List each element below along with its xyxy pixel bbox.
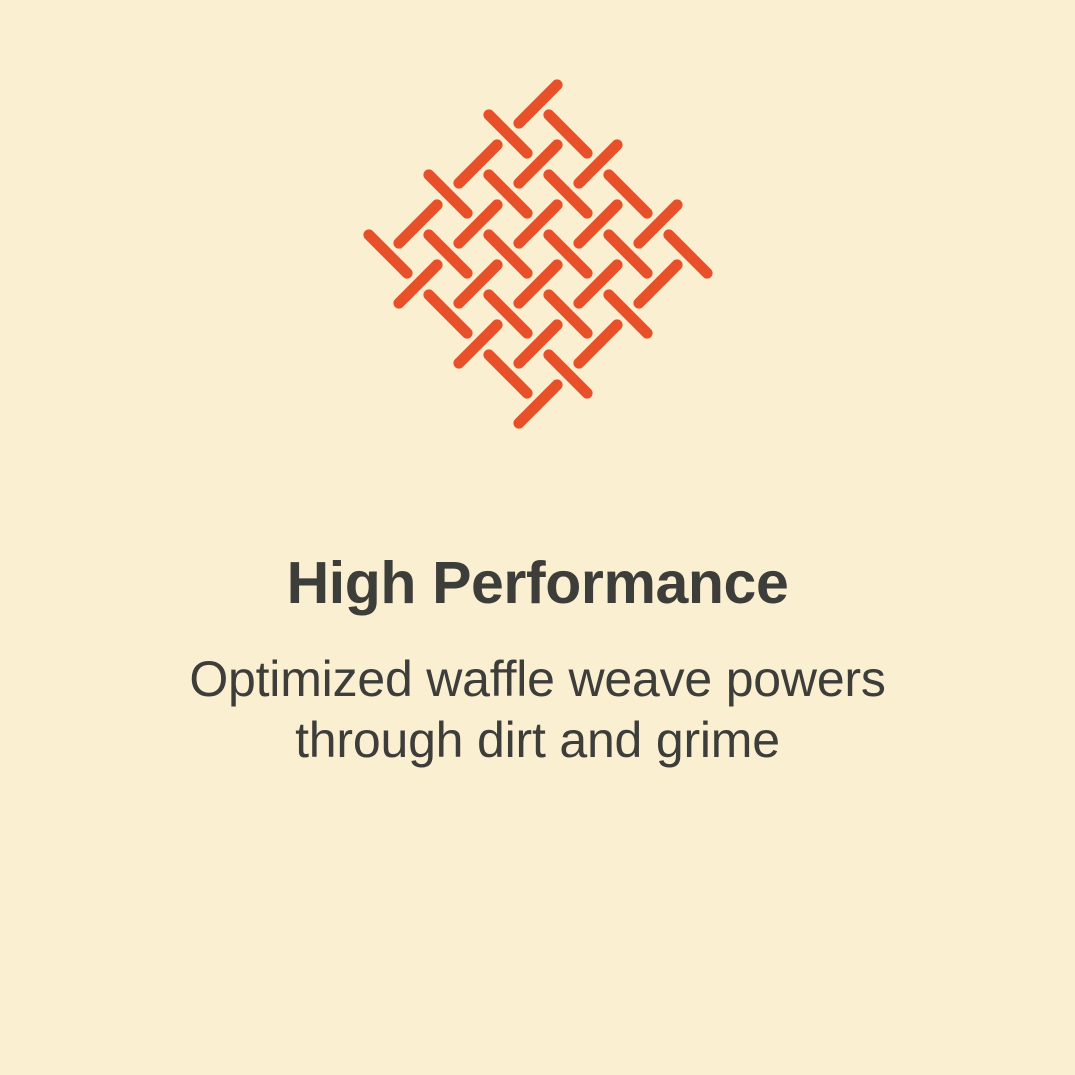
feature-description-line-2: through dirt and grime — [189, 710, 885, 771]
feature-card: High Performance Optimized waffle weave … — [0, 0, 1075, 1075]
feature-title: High Performance — [287, 552, 789, 615]
waffle-weave-icon — [338, 60, 738, 460]
weave-stroke-group — [368, 85, 706, 423]
feature-description-line-1: Optimized waffle weave powers — [189, 649, 885, 710]
feature-text-block: High Performance Optimized waffle weave … — [0, 552, 1075, 771]
feature-icon-container — [0, 0, 1075, 520]
feature-description: Optimized waffle weave powers through di… — [189, 615, 885, 771]
